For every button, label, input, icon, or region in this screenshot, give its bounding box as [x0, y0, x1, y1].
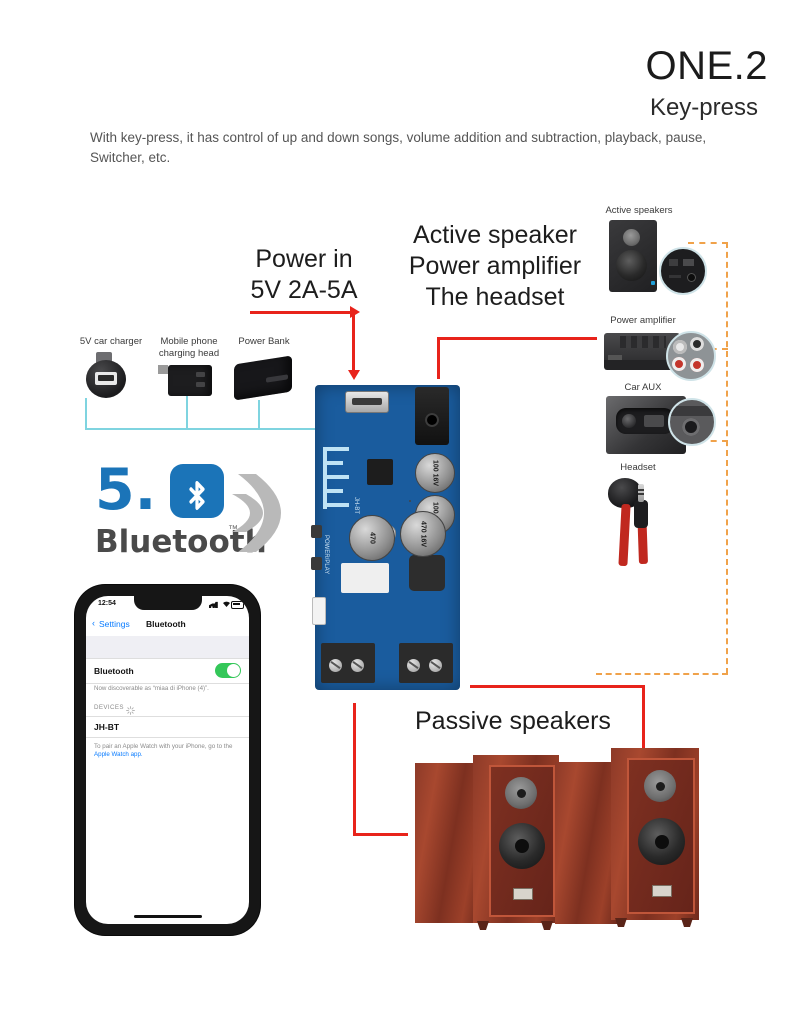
bluetooth-amplifier-board: 100 16V 100 16V 470 16V 470 JH-BT POWER/… — [315, 385, 460, 690]
page-description: With key-press, it has control of up and… — [90, 128, 750, 168]
amplifier-ic — [341, 563, 389, 593]
phone-status-bar: 12:54 — [86, 598, 249, 612]
battery-icon — [231, 601, 244, 609]
phone-charger-label-line2: charging head — [148, 348, 230, 360]
callout-power-in: Power in 5V 2A-5A — [243, 244, 365, 306]
back-button-label[interactable]: Settings — [99, 619, 130, 629]
car-aux-label: Car AUX — [600, 382, 686, 394]
capacitor: 100 16V — [415, 453, 455, 493]
device-name: JH-BT — [94, 722, 119, 732]
bluetooth-chip — [367, 459, 393, 485]
aux-port-zoom — [668, 398, 716, 446]
red-line-passive-bottom — [353, 833, 408, 836]
power-source-power-bank: Power Bank — [228, 336, 300, 398]
teal-line-power-bank — [258, 400, 260, 430]
capacitor — [409, 500, 411, 502]
active-speaker-rear-panel-zoom — [659, 247, 707, 295]
signal-icon — [209, 601, 219, 608]
red-line-power-horizontal — [250, 311, 355, 314]
pcb-silkscreen-label: JH-BT — [353, 497, 359, 514]
output-headset: Headset — [598, 462, 708, 572]
bluetooth-icon — [170, 464, 224, 518]
phone-charger-label-line1: Mobile phone — [148, 336, 230, 348]
red-line-output-vertical — [437, 337, 440, 379]
red-line-output-horizontal — [437, 337, 597, 340]
output-car-aux: Car AUX — [600, 382, 710, 457]
power-amplifier-label: Power amplifier — [598, 315, 688, 327]
nav-title: Bluetooth — [146, 619, 186, 629]
power-source-car-charger: 5V car charger — [72, 336, 150, 398]
bluetooth-row-label: Bluetooth — [94, 666, 134, 676]
signal-waves-icon — [228, 468, 300, 563]
red-line-passive-right-vertical — [642, 685, 645, 750]
bluetooth-toggle-switch[interactable] — [215, 663, 241, 678]
callout-active-speaker: Active speaker — [405, 220, 585, 251]
callout-outputs: Active speaker Power amplifier The heads… — [405, 220, 585, 313]
teal-line-car-charger — [85, 398, 87, 430]
loading-spinner-icon — [126, 702, 135, 711]
capacitor-value: 100 16V — [432, 454, 439, 492]
play-pause-button[interactable] — [311, 525, 322, 538]
capacitor-value: 470 — [369, 516, 376, 560]
output-power-amplifier: Power amplifier — [598, 315, 708, 387]
active-speakers-label: Active speakers — [595, 205, 683, 217]
callout-the-headset: The headset — [405, 282, 585, 313]
passive-speaker-right — [555, 748, 705, 930]
bluetooth-version-number: 5. — [95, 462, 156, 519]
capacitor: 470 — [349, 515, 395, 561]
ios-spacer — [86, 636, 249, 658]
devices-section-header: DEVICES — [94, 704, 124, 711]
micro-usb-port — [345, 391, 389, 413]
phone-screen: 12:54 ‹ Settings Bluetooth Bluetooth Now… — [86, 596, 249, 924]
discoverable-text: Now discoverable as “miaa di iPhone (4)”… — [94, 684, 243, 693]
device-list-item[interactable]: JH-BT — [86, 716, 249, 738]
red-arrow-power-down — [348, 370, 360, 380]
bluetooth-toggle-row[interactable]: Bluetooth — [86, 658, 249, 684]
status-time: 12:54 — [98, 600, 116, 607]
smartphone: 12:54 ‹ Settings Bluetooth Bluetooth Now… — [75, 585, 260, 935]
pcb-silkscreen-label: POWER/PLAY — [323, 535, 329, 574]
capacitor: 470 16V — [400, 511, 446, 557]
red-line-passive-left-vertical — [353, 703, 356, 835]
phone-nav-bar: ‹ Settings Bluetooth — [86, 616, 249, 634]
apple-watch-footer-text: To pair an Apple Watch with your iPhone,… — [94, 742, 243, 751]
capacitor-value: 470 16V — [420, 512, 427, 556]
rca-jacks-zoom — [666, 331, 716, 381]
output-active-speakers: Active speakers — [595, 205, 695, 295]
audio-jack — [415, 387, 449, 445]
back-chevron-icon[interactable]: ‹ — [92, 618, 95, 628]
power-source-phone-charger: Mobile phone charging head — [148, 336, 230, 396]
speaker-terminal-left — [321, 643, 375, 683]
red-line-passive-top — [470, 685, 645, 688]
callout-passive-speakers: Passive speakers — [415, 707, 611, 736]
power-bank-label: Power Bank — [228, 336, 300, 348]
callout-power-in-line2: 5V 2A-5A — [243, 275, 365, 306]
headset-label: Headset — [598, 462, 678, 474]
callout-power-amplifier: Power amplifier — [405, 251, 585, 282]
teal-line-phone-charger — [186, 392, 188, 430]
orange-dashed-branch-headset — [596, 673, 728, 675]
passive-speaker-left — [415, 755, 565, 930]
volume-button[interactable] — [311, 557, 322, 570]
home-indicator — [134, 915, 202, 918]
speaker-terminal-right — [399, 643, 453, 683]
teal-line-bracket — [85, 428, 320, 430]
page-title: ONE.2 — [645, 44, 768, 89]
white-connector — [312, 597, 326, 625]
page-subtitle: Key-press — [650, 94, 758, 122]
pcb-antenna-trace — [323, 447, 349, 513]
orange-dashed-main-vertical — [726, 242, 728, 674]
wifi-icon — [222, 600, 231, 610]
red-line-power-vertical — [352, 311, 355, 373]
car-charger-label: 5V car charger — [70, 336, 152, 348]
power-inductor — [409, 555, 445, 591]
apple-watch-app-link[interactable]: Apple Watch app. — [94, 751, 143, 758]
callout-power-in-line1: Power in — [243, 244, 365, 275]
